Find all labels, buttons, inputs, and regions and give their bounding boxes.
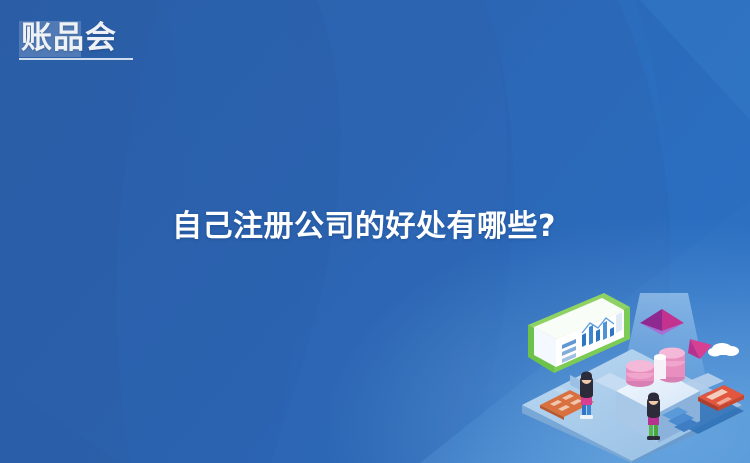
site-logo[interactable]: 账品会 [17, 18, 121, 60]
illustration-svg [512, 287, 750, 463]
coin-stack-left [626, 360, 654, 387]
logo-text: 账品会 [21, 20, 117, 56]
logo-underline [19, 58, 133, 60]
promo-banner: 账品会 自己注册公司的好处有哪些? [0, 0, 750, 463]
coin-stack-center [654, 354, 666, 379]
cloud-shape [708, 343, 739, 357]
logo-wrapper: 账品会 [17, 18, 121, 60]
isometric-illustration [512, 287, 750, 463]
page-title: 自己注册公司的好处有哪些? [172, 205, 556, 249]
